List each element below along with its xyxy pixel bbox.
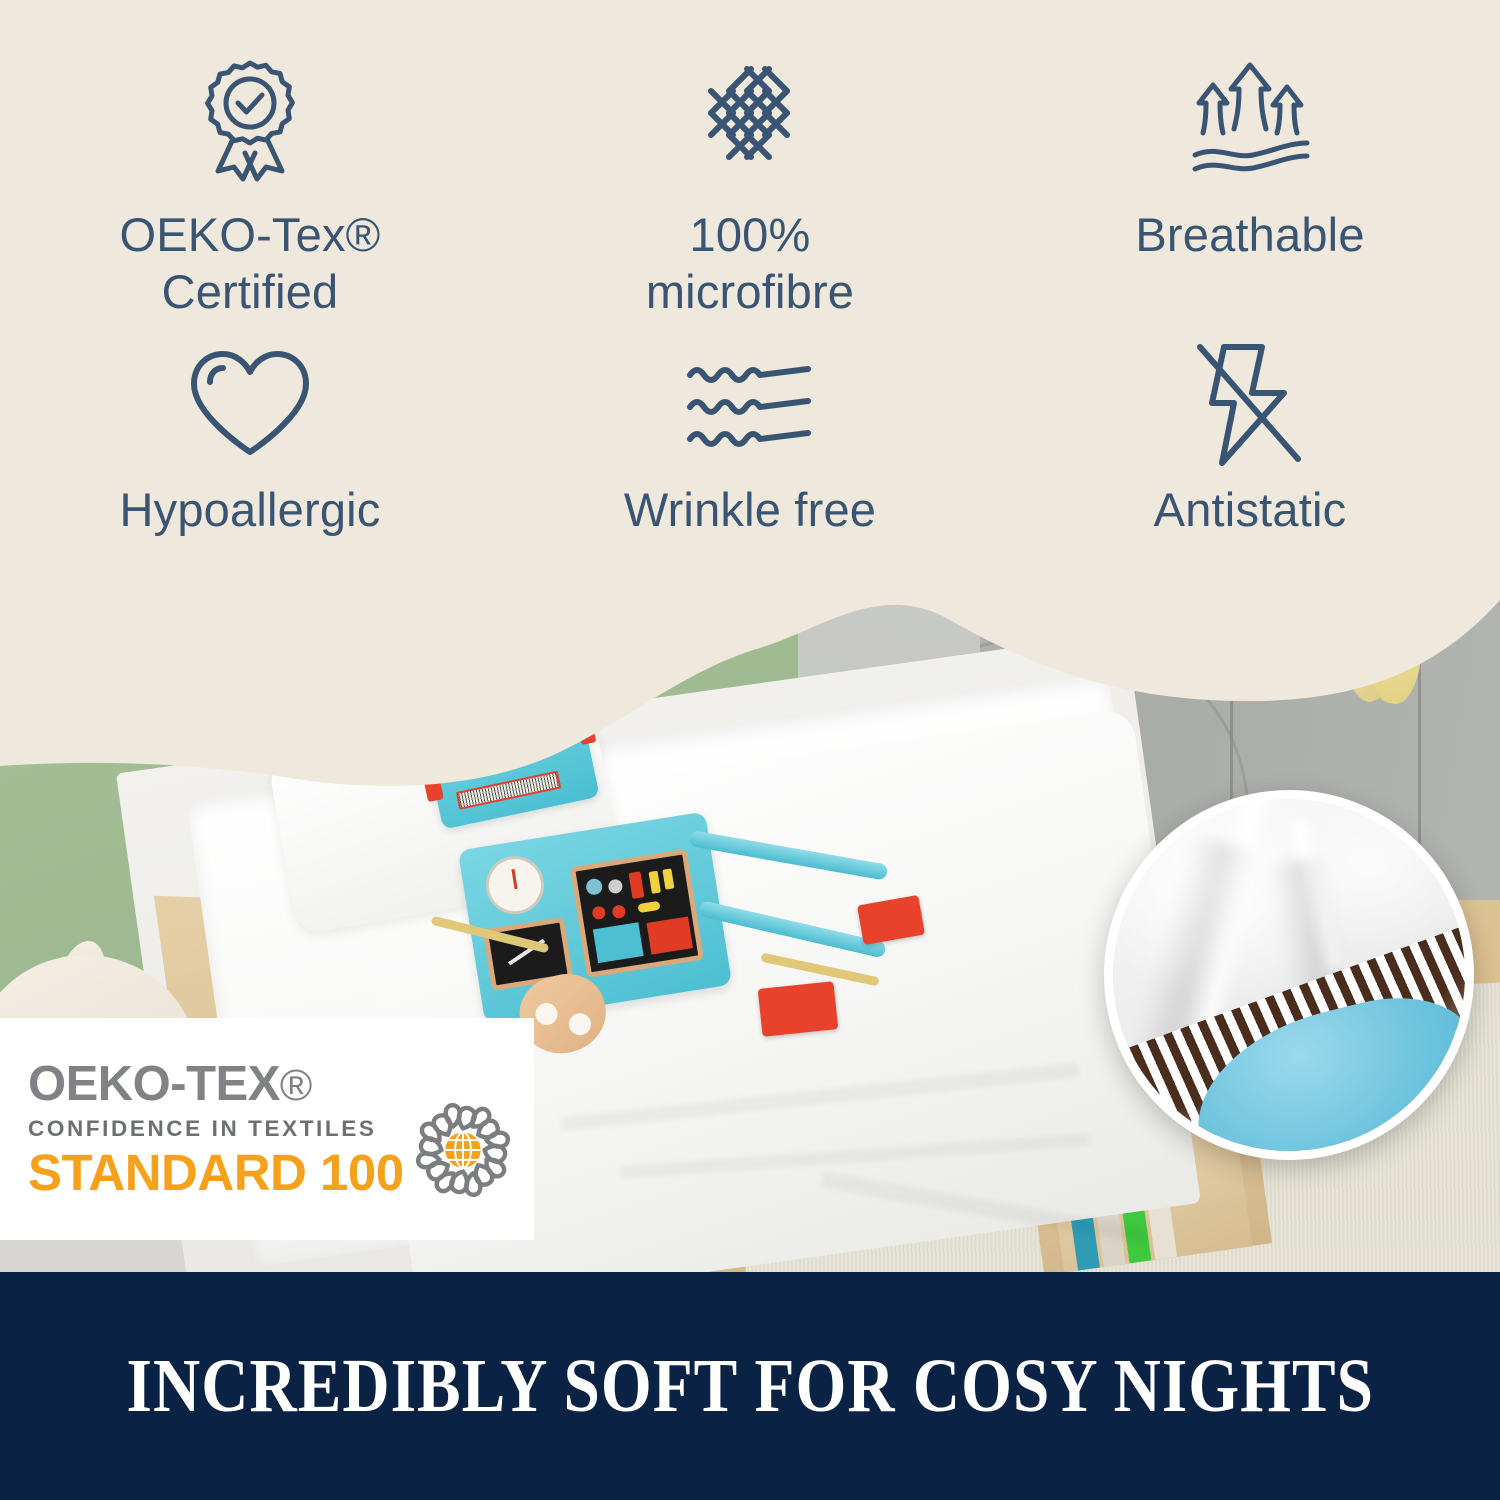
feature-oeko-tex-certified: OEKO-Tex® Certified <box>0 0 500 321</box>
feature-label: Antistatic <box>1154 481 1347 538</box>
robot-key-hole <box>533 1001 560 1028</box>
feature-breathable: Breathable <box>1000 0 1500 321</box>
feature-label: 100% microfibre <box>646 206 854 321</box>
woven-fabric-icon <box>685 44 815 194</box>
headline-text: INCREDIBLY SOFT FOR COSY NIGHTS <box>126 1343 1374 1430</box>
registered-mark: ® <box>280 1061 312 1110</box>
feature-label: Wrinkle free <box>624 481 876 538</box>
robot-eye <box>498 723 541 766</box>
feature-label: Breathable <box>1135 206 1364 263</box>
crossed-out-lightning-bolt-icon <box>1190 341 1310 469</box>
feature-label-line1: Antistatic <box>1154 483 1347 536</box>
feature-label: OEKO-Tex® Certified <box>119 206 380 321</box>
feature-label-line1: Hypoallergic <box>119 483 380 536</box>
toy-pin-band <box>1381 619 1427 641</box>
robot-control-panel <box>570 849 704 978</box>
robot-key-hole <box>567 1011 594 1038</box>
oeko-tex-brand-label: OEKO-TEX <box>28 1057 280 1111</box>
robot-eye <box>445 743 485 783</box>
product-feature-poster: OEKO-Tex® Certified <box>0 0 1500 1500</box>
feature-hypoallergenic: Hypoallergic <box>0 321 500 600</box>
oeko-tex-badge-text: OEKO-TEX® CONFIDENCE IN TEXTILES STANDAR… <box>28 1060 404 1198</box>
feature-label-line1: 100% <box>689 208 810 261</box>
wavy-to-straight-lines-icon <box>684 341 816 469</box>
robot-clock-gauge <box>482 852 548 918</box>
feature-label-line1: OEKO-Tex® <box>119 208 380 261</box>
oeko-tex-brand: OEKO-TEX® <box>28 1060 404 1109</box>
airflow-arrows-icon <box>1185 44 1315 194</box>
feature-label-line2: Certified <box>119 263 380 320</box>
feature-microfibre: 100% microfibre <box>500 0 1000 321</box>
feature-wrinkle-free: Wrinkle free <box>500 321 1000 600</box>
feature-label-line1: Breathable <box>1135 208 1364 261</box>
feature-antistatic: Antistatic <box>1000 321 1500 600</box>
feature-label: Hypoallergic <box>119 481 380 538</box>
oeko-tex-standard-label: STANDARD 100 <box>28 1147 404 1198</box>
award-ribbon-icon <box>190 44 310 194</box>
feature-label-line1: Wrinkle free <box>624 483 876 536</box>
feature-label-line2: microfibre <box>646 263 854 320</box>
oeko-tex-flower-globe-icon <box>404 1091 522 1209</box>
fabric-closeup-circle <box>1104 790 1474 1160</box>
oeko-tex-tagline: CONFIDENCE IN TEXTILES <box>28 1116 404 1142</box>
robot-foot <box>758 981 839 1037</box>
bottom-headline-banner: INCREDIBLY SOFT FOR COSY NIGHTS <box>0 1272 1500 1500</box>
oeko-tex-standard-100-badge: OEKO-TEX® CONFIDENCE IN TEXTILES STANDAR… <box>0 1018 534 1240</box>
feature-grid: OEKO-Tex® Certified <box>0 0 1500 600</box>
heart-icon <box>186 341 314 469</box>
